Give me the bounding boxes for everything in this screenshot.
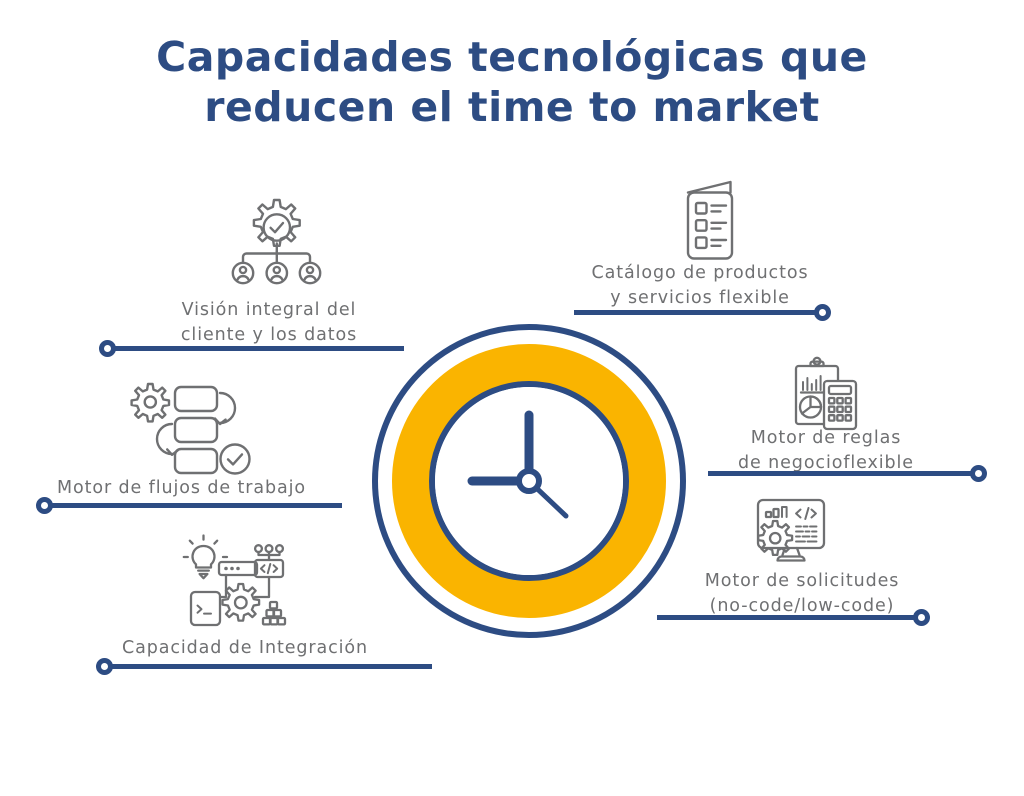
connector-dot-vision-integral [99,340,116,357]
connector-dot-motor-reglas-negocio [970,465,987,482]
monitor-code-gear-icon [755,497,827,563]
label-vision-integral: Visión integral del cliente y los datos [168,298,370,348]
connector-dot-motor-flujos-trabajo [36,497,53,514]
label-motor-flujos-trabajo: Motor de flujos de trabajo [57,476,306,501]
connector-line-capacidad-integracion [102,664,432,669]
connector-line-catalogo-productos [574,310,825,315]
connector-line-motor-solicitudes [657,615,921,620]
infographic-canvas: Capacidades tecnológicas que reducen el … [0,0,1024,796]
clock-icon [368,320,690,646]
gear-check-org-chart-icon [228,196,320,284]
label-capacidad-integracion-line-1: Capacidad de Integración [122,636,368,661]
connector-line-motor-flujos-trabajo [42,503,342,508]
label-catalogo-productos: Catálogo de productos y servicios flexib… [567,261,833,311]
label-vision-integral-line-1: Visión integral del [168,298,370,323]
label-motor-reglas-negocio-line-1: Motor de reglas [728,426,924,451]
label-capacidad-integracion: Capacidad de Integración [122,636,368,661]
page-title: Capacidades tecnológicas que reducen el … [0,32,1024,132]
catalog-booklet-icon [679,180,747,262]
label-motor-flujos-trabajo-line-1: Motor de flujos de trabajo [57,476,306,501]
connector-line-motor-reglas-negocio [708,471,978,476]
label-catalogo-productos-line-1: Catálogo de productos [567,261,833,286]
integration-icon [186,534,290,626]
page-title-line-2: reducen el time to market [0,82,1024,132]
page-title-line-1: Capacidades tecnológicas que [0,32,1024,82]
label-motor-solicitudes-line-1: Motor de solicitudes [688,569,916,594]
label-vision-integral-line-2: cliente y los datos [168,323,370,348]
connector-line-vision-integral [105,346,404,351]
label-motor-solicitudes: Motor de solicitudes (no-code/low-code) [688,569,916,619]
connector-dot-motor-solicitudes [913,609,930,626]
connector-dot-capacidad-integracion [96,658,113,675]
connector-dot-catalogo-productos [814,304,831,321]
workflow-engine-icon [131,381,243,473]
label-catalogo-productos-line-2: y servicios flexible [567,286,833,311]
label-motor-reglas-negocio: Motor de reglas de negocioflexible [728,426,924,476]
clipboard-calculator-icon [793,358,859,434]
